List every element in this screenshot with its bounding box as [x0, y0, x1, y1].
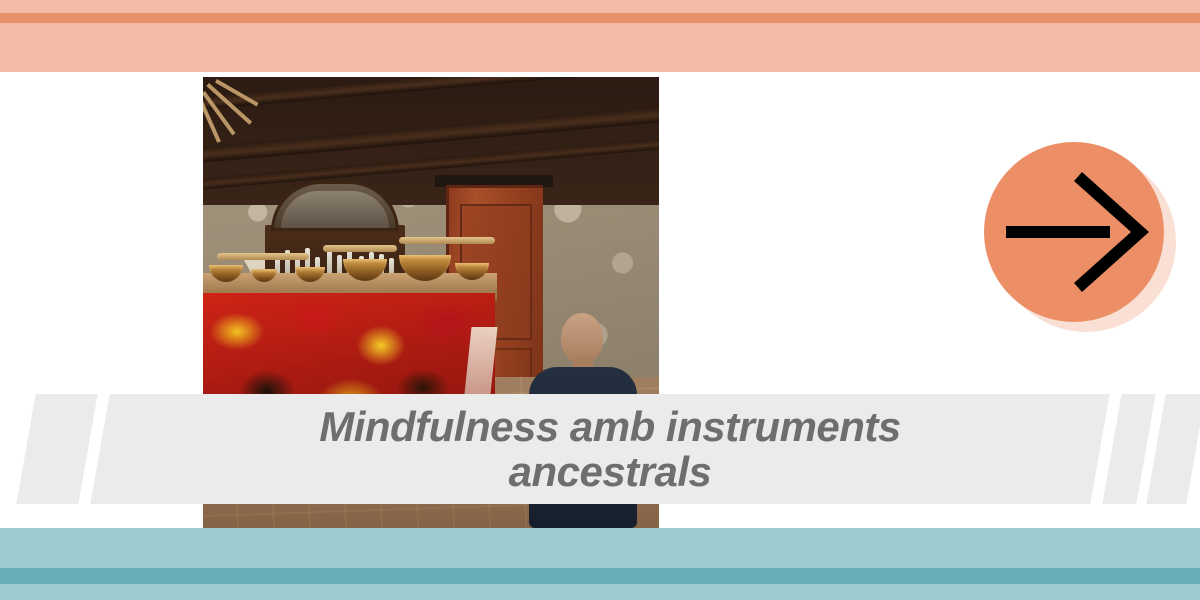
mallet-stick	[399, 237, 495, 244]
arrow-right-icon[interactable]	[984, 142, 1164, 322]
photo-ceiling	[203, 77, 659, 205]
banner-stripe-right-1	[1102, 394, 1155, 504]
bottom-decorative-bar	[0, 528, 1200, 600]
poster-canvas: GOODTHINGSTAKETIME Mindfulness amb instr…	[0, 0, 1200, 600]
top-decorative-bar	[0, 0, 1200, 72]
title-banner	[0, 394, 1200, 504]
banner-plate	[108, 394, 1109, 504]
banner-stripe-right-2	[1146, 394, 1200, 504]
mirror-glass	[281, 191, 389, 228]
bottom-accent-stripe	[0, 568, 1200, 584]
top-accent-stripe	[0, 13, 1200, 23]
mallet-stick	[217, 253, 309, 260]
banner-stripe-left-1	[16, 394, 97, 504]
person-head	[561, 313, 603, 363]
mallet-stick	[323, 245, 397, 252]
